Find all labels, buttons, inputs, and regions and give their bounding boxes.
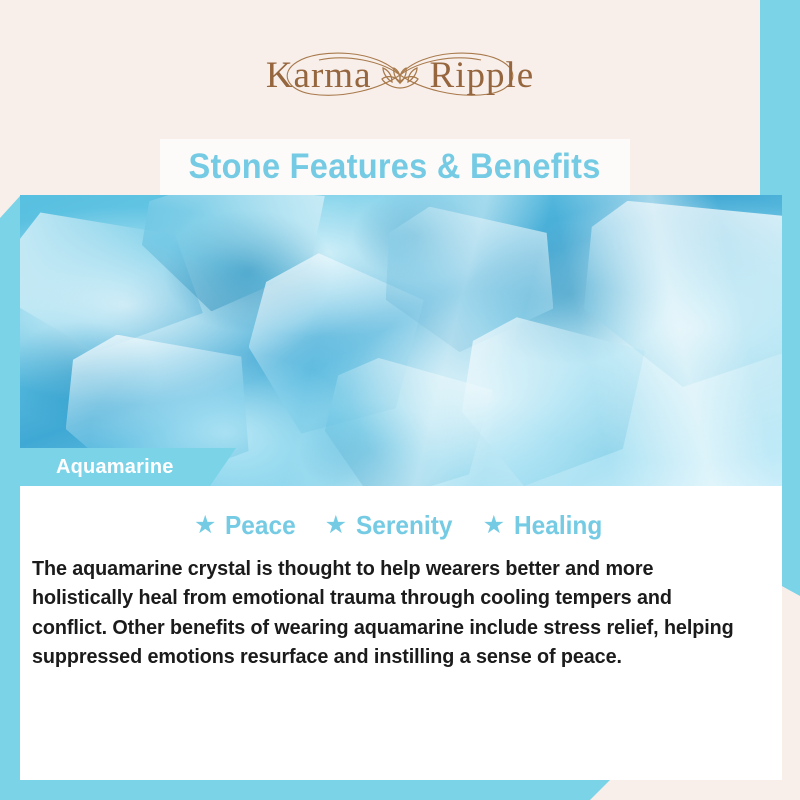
benefit-label: Healing [514, 510, 602, 541]
section-title-banner: Stone Features & Benefits [160, 139, 630, 195]
benefit-item-serenity: ★ Serenity [325, 510, 459, 541]
decor-bottom-teal-band [0, 780, 610, 800]
photo-sheen-layer [20, 195, 782, 486]
page-title: Stone Features & Benefits [189, 147, 601, 187]
decor-left-teal-band [0, 196, 20, 786]
brand-name-left: Karma [266, 54, 372, 97]
crystal-photo [20, 195, 782, 486]
benefit-label: Peace [225, 510, 296, 541]
benefits-row: ★ Peace ★ Serenity ★ Healing [20, 486, 782, 541]
benefit-item-peace: ★ Peace [194, 510, 301, 541]
stone-name-ribbon: Aquamarine [20, 448, 236, 486]
star-icon: ★ [483, 513, 505, 538]
stone-name-label: Aquamarine [56, 456, 174, 479]
star-icon: ★ [325, 513, 347, 538]
benefit-item-healing: ★ Healing [483, 510, 608, 541]
brand-name-right: Ripple [430, 54, 535, 97]
star-icon: ★ [194, 513, 216, 538]
benefit-label: Serenity [356, 510, 452, 541]
content-panel: ★ Peace ★ Serenity ★ Healing The aquamar… [20, 486, 782, 780]
description-text: The aquamarine crystal is thought to hel… [32, 554, 746, 671]
infographic-card: Karma Ripple Stone Features & Benefits A… [0, 0, 800, 800]
brand-logo: Karma Ripple [0, 40, 800, 110]
